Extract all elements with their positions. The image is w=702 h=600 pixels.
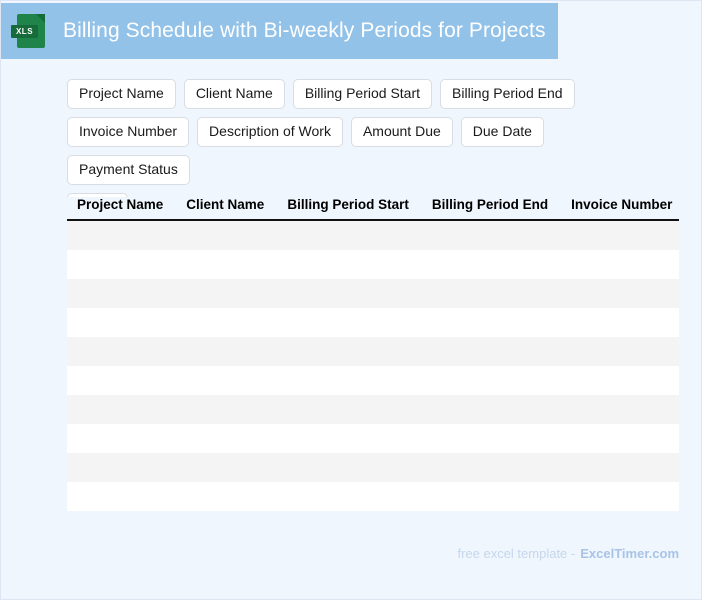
table-cell[interactable] xyxy=(176,366,277,395)
table-cell[interactable] xyxy=(561,220,679,250)
table-row[interactable] xyxy=(67,279,679,308)
column-header-invoice-number[interactable]: Invoice Number xyxy=(561,197,679,220)
page-header-bar: XLS Billing Schedule with Bi-weekly Peri… xyxy=(1,3,558,59)
table-cell[interactable] xyxy=(176,337,277,366)
table-cell[interactable] xyxy=(67,482,176,511)
table-cell[interactable] xyxy=(422,395,561,424)
column-header-client-name[interactable]: Client Name xyxy=(176,197,277,220)
table-row[interactable] xyxy=(67,220,679,250)
table-cell[interactable] xyxy=(561,250,679,279)
field-pill-invoice-number[interactable]: Invoice Number xyxy=(67,117,189,147)
table-row[interactable] xyxy=(67,482,679,511)
table-cell[interactable] xyxy=(422,220,561,250)
table-header-row: Project Name Client Name Billing Period … xyxy=(67,197,679,220)
table-cell[interactable] xyxy=(277,453,422,482)
template-page: XLS Billing Schedule with Bi-weekly Peri… xyxy=(0,0,702,600)
table-cell[interactable] xyxy=(277,366,422,395)
table-cell[interactable] xyxy=(422,453,561,482)
table-cell[interactable] xyxy=(67,453,176,482)
table-cell[interactable] xyxy=(277,250,422,279)
table-cell[interactable] xyxy=(277,220,422,250)
table-cell[interactable] xyxy=(277,308,422,337)
xls-icon-fold xyxy=(36,14,45,23)
table-cell[interactable] xyxy=(422,482,561,511)
field-row-2: Invoice Number Description of Work Amoun… xyxy=(67,117,681,193)
table-cell[interactable] xyxy=(176,279,277,308)
table-cell[interactable] xyxy=(422,366,561,395)
page-title: Billing Schedule with Bi-weekly Periods … xyxy=(63,19,546,43)
xls-icon-label: XLS xyxy=(11,25,38,38)
table-cell[interactable] xyxy=(67,395,176,424)
table-cell[interactable] xyxy=(67,308,176,337)
table-cell[interactable] xyxy=(561,308,679,337)
table-cell[interactable] xyxy=(176,220,277,250)
table-cell[interactable] xyxy=(67,337,176,366)
table-cell[interactable] xyxy=(176,482,277,511)
table-cell[interactable] xyxy=(561,279,679,308)
footer-prefix: free excel template - xyxy=(457,546,575,561)
table-cell[interactable] xyxy=(176,395,277,424)
table-cell[interactable] xyxy=(277,279,422,308)
table-row[interactable] xyxy=(67,424,679,453)
table-row[interactable] xyxy=(67,366,679,395)
table-cell[interactable] xyxy=(561,424,679,453)
table-cell[interactable] xyxy=(277,395,422,424)
table-cell[interactable] xyxy=(561,337,679,366)
table-cell[interactable] xyxy=(561,366,679,395)
table-cell[interactable] xyxy=(422,279,561,308)
table-cell[interactable] xyxy=(422,337,561,366)
table-row[interactable] xyxy=(67,308,679,337)
field-pill-billing-period-end[interactable]: Billing Period End xyxy=(440,79,575,109)
table-cell[interactable] xyxy=(67,279,176,308)
table-cell[interactable] xyxy=(277,424,422,453)
table-cell[interactable] xyxy=(176,424,277,453)
table-cell[interactable] xyxy=(176,250,277,279)
table-cell[interactable] xyxy=(277,482,422,511)
table-cell[interactable] xyxy=(67,424,176,453)
table-cell[interactable] xyxy=(422,424,561,453)
spreadsheet-preview: Project Name Client Name Billing Period … xyxy=(67,197,679,525)
field-pill-amount-due[interactable]: Amount Due xyxy=(351,117,453,147)
table-body xyxy=(67,220,679,511)
field-pill-project-name[interactable]: Project Name xyxy=(67,79,176,109)
column-header-billing-period-end[interactable]: Billing Period End xyxy=(422,197,561,220)
field-pill-description-of-work[interactable]: Description of Work xyxy=(197,117,343,147)
table-cell[interactable] xyxy=(176,453,277,482)
field-pill-payment-status[interactable]: Payment Status xyxy=(67,155,190,185)
data-table: Project Name Client Name Billing Period … xyxy=(67,197,679,511)
table-row[interactable] xyxy=(67,395,679,424)
table-row[interactable] xyxy=(67,337,679,366)
table-cell[interactable] xyxy=(422,250,561,279)
table-cell[interactable] xyxy=(67,250,176,279)
column-header-billing-period-start[interactable]: Billing Period Start xyxy=(277,197,422,220)
field-pill-billing-period-start[interactable]: Billing Period Start xyxy=(293,79,432,109)
table-cell[interactable] xyxy=(561,395,679,424)
table-row[interactable] xyxy=(67,250,679,279)
field-pill-due-date[interactable]: Due Date xyxy=(461,117,544,147)
field-row-1: Project Name Client Name Billing Period … xyxy=(67,79,681,117)
column-header-project-name[interactable]: Project Name xyxy=(67,197,176,220)
table-cell[interactable] xyxy=(277,337,422,366)
table-cell[interactable] xyxy=(67,366,176,395)
table-cell[interactable] xyxy=(561,453,679,482)
footer-brand-link[interactable]: ExcelTimer.com xyxy=(580,546,679,561)
xls-file-icon: XLS xyxy=(17,14,45,48)
table-row[interactable] xyxy=(67,453,679,482)
table-cell[interactable] xyxy=(176,308,277,337)
table-cell[interactable] xyxy=(67,220,176,250)
table-cell[interactable] xyxy=(561,482,679,511)
footer-watermark: free excel template -ExcelTimer.com xyxy=(457,546,679,561)
table-head: Project Name Client Name Billing Period … xyxy=(67,197,679,220)
field-pill-client-name[interactable]: Client Name xyxy=(184,79,285,109)
table-cell[interactable] xyxy=(422,308,561,337)
